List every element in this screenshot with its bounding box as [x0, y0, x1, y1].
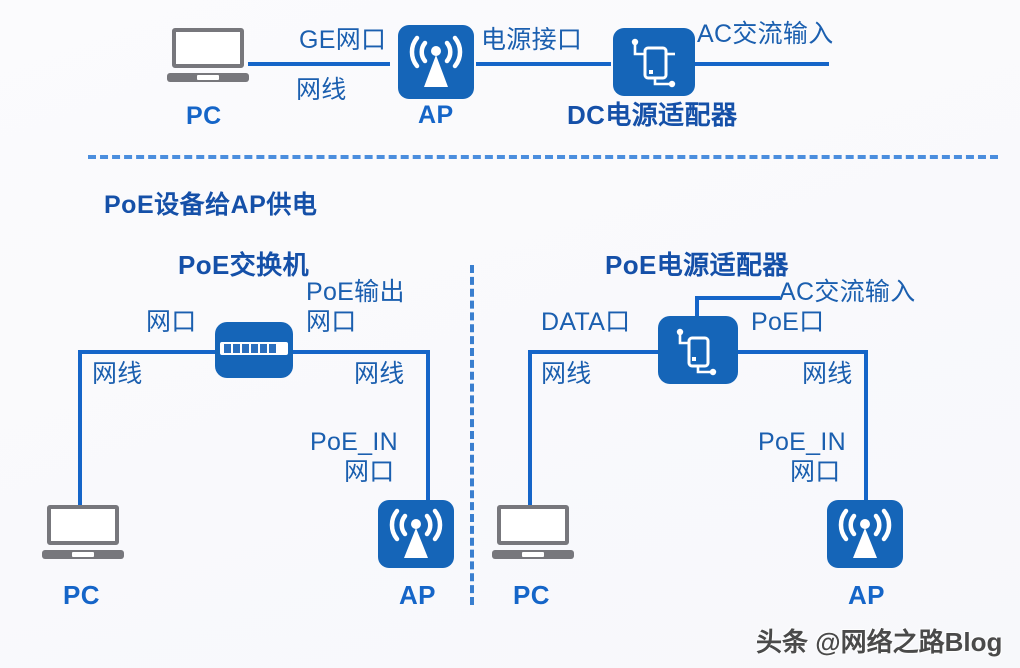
laptop-trackpad	[522, 552, 545, 558]
label-cable-left-right-sec: 网线	[541, 360, 592, 388]
label-poe-port: PoE口	[751, 308, 824, 336]
wire-down-to-pc-left	[78, 350, 82, 520]
label-ac-input-top: AC交流输入	[697, 20, 834, 48]
label-ge-port: GE网口	[299, 26, 386, 54]
laptop-base	[492, 550, 574, 559]
wire-adapter-left	[528, 350, 658, 354]
wire-down-to-ap-left	[426, 350, 430, 504]
switch-port	[269, 344, 276, 353]
wire-switch-left	[78, 350, 215, 354]
switch-port	[233, 344, 240, 353]
wire-down-to-pc-right	[528, 350, 532, 520]
switch-port	[251, 344, 258, 353]
label-power-port: 电源接口	[481, 26, 582, 54]
switch-port	[242, 344, 249, 353]
laptop-screen	[172, 28, 244, 68]
power-adapter-icon	[658, 316, 738, 384]
left-section-title: PoE交换机	[178, 245, 309, 282]
wire-adapter-to-ac-top	[694, 62, 829, 66]
label-port-right: 网口	[306, 308, 357, 336]
label-port-left: 网口	[146, 308, 197, 336]
section-divider-horizontal	[88, 155, 998, 159]
ap-device-top	[398, 25, 474, 99]
wifi-antenna-icon	[398, 25, 474, 99]
laptop-trackpad	[197, 75, 220, 81]
ap-device-left	[378, 500, 454, 568]
device-label-pc-right: PC	[513, 580, 550, 611]
laptop-icon-top	[167, 28, 249, 82]
label-ac-input-right: AC交流输入	[779, 278, 916, 306]
device-label-pc-top: PC	[186, 102, 222, 131]
wire-ac-horizontal-right	[695, 296, 780, 300]
laptop-icon-right	[492, 505, 574, 559]
wire-pc-to-ap-top	[248, 62, 390, 66]
switch-port	[260, 344, 267, 353]
power-adapter-icon	[613, 28, 695, 96]
label-data-port: DATA口	[541, 308, 630, 336]
device-label-ap-top: AP	[418, 101, 454, 130]
wifi-antenna-icon	[827, 500, 903, 568]
label-cable-left: 网线	[92, 360, 143, 388]
label-poe-output: PoE输出	[306, 278, 405, 306]
device-label-pc-left: PC	[63, 580, 100, 611]
label-poe-in-left: PoE_IN	[310, 428, 398, 456]
laptop-screen	[47, 505, 119, 545]
laptop-trackpad	[72, 552, 95, 558]
poe-switch-device	[215, 322, 293, 378]
wire-ap-to-adapter-top	[476, 62, 611, 66]
wifi-antenna-icon	[378, 500, 454, 568]
section-header-poe: PoE设备给AP供电	[104, 185, 317, 221]
label-poe-in-port-left: 网口	[344, 458, 395, 486]
device-label-ap-right: AP	[848, 580, 885, 611]
laptop-base	[167, 73, 249, 82]
switch-port	[224, 344, 231, 353]
label-poe-in-right: PoE_IN	[758, 428, 846, 456]
wire-adapter-right	[738, 350, 868, 354]
label-cable-right: 网线	[354, 360, 405, 388]
diagram-canvas: PC AP DC电源适配器 GE网口 网线 电源接口 AC交流输入 PoE设备给	[0, 0, 1020, 668]
device-label-ap-left: AP	[399, 580, 436, 611]
wire-down-to-ap-right	[864, 350, 868, 504]
label-cable-right-right-sec: 网线	[802, 360, 853, 388]
laptop-icon-left	[42, 505, 124, 559]
label-poe-in-port-right: 网口	[790, 458, 841, 486]
laptop-base	[42, 550, 124, 559]
section-divider-vertical	[470, 265, 474, 605]
wire-switch-right	[293, 350, 430, 354]
ap-device-right	[827, 500, 903, 568]
dc-adapter-device-top	[613, 28, 695, 96]
right-section-title: PoE电源适配器	[605, 245, 789, 282]
label-cable-top: 网线	[296, 76, 347, 104]
laptop-screen	[497, 505, 569, 545]
poe-adapter-device	[658, 316, 738, 384]
switch-port-panel	[220, 342, 289, 355]
device-label-dc-adapter: DC电源适配器	[567, 95, 737, 132]
watermark: 头条 @网络之路Blog	[756, 622, 1002, 659]
